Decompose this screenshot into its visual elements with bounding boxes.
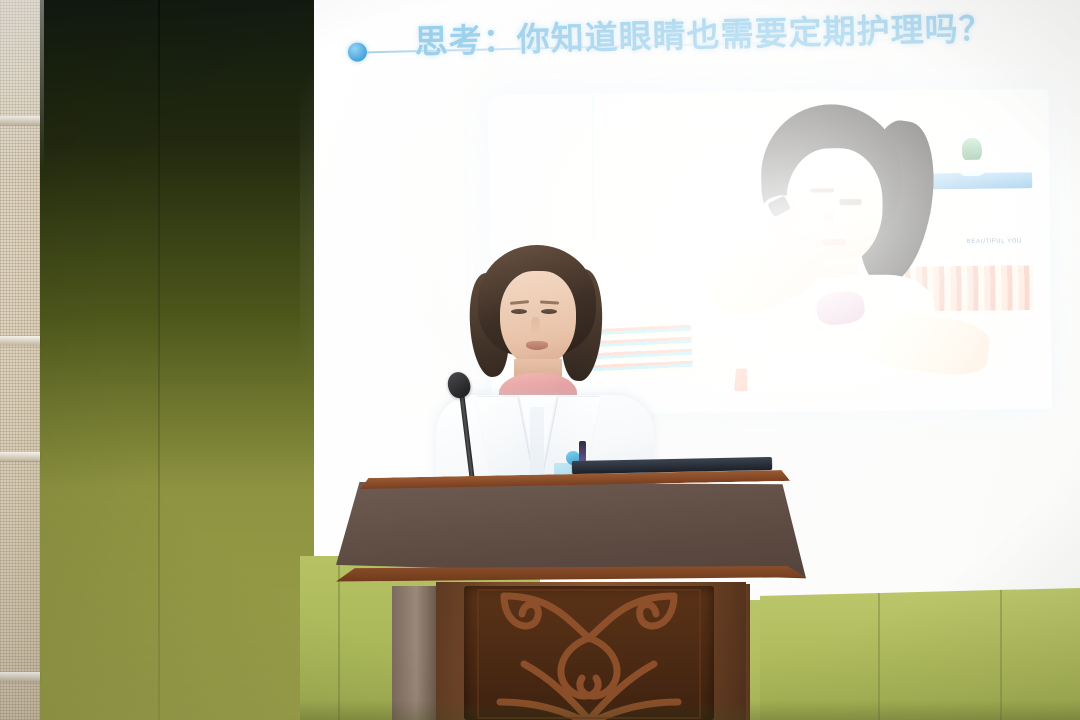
panel-seam [0,336,40,345]
blue-dot-icon [348,42,367,61]
photo-window [500,93,692,242]
floor-shadow [300,700,1080,720]
acoustic-panel-strip [0,0,40,720]
presentation-scene: 思考：你知道眼睛也需要定期护理吗？ BEAUTIFUL YOU [0,0,1080,720]
presenter-eye-right [541,309,557,314]
panel-seam [0,116,40,125]
student-mouth [821,239,845,245]
panel-seam [0,672,40,681]
presenter-nose [531,317,540,335]
microphone-head [445,369,473,400]
presenter-eye-left [511,309,527,314]
student-nose [824,210,835,231]
wall-panel-left [36,0,314,720]
presenter-mouth [526,341,548,350]
panel-glare [0,0,44,170]
wooden-lectern [336,474,806,720]
gooseneck-microphone [448,372,484,490]
student-eye [840,200,862,206]
student-eyebrow [810,188,834,193]
photo-student [712,103,984,400]
panel-seam [0,452,40,461]
